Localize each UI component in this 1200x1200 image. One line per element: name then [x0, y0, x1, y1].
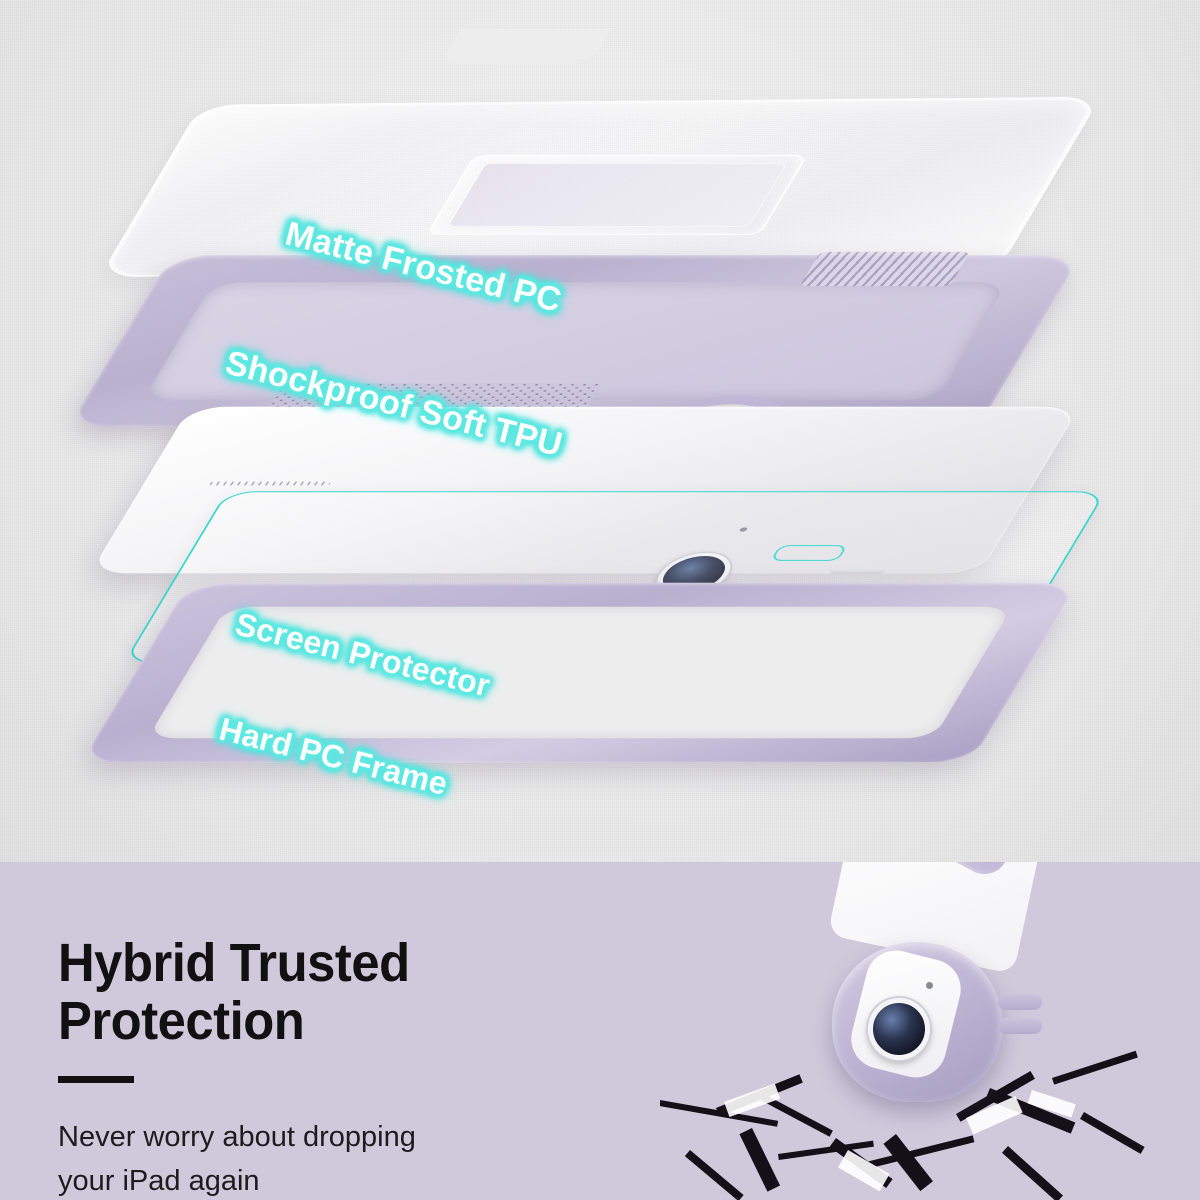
camera-lens: [868, 998, 930, 1060]
exploded-view-panel: Matte Frosted PC Shockproof Soft TPU Scr…: [0, 0, 1200, 862]
pc-frame-window: [147, 607, 1012, 739]
cased-ipad-corner: [740, 862, 1160, 1146]
button-cutouts: [998, 994, 1042, 1058]
microphone-dot: [926, 982, 933, 989]
button-cutout-volume-up: [998, 994, 1042, 1010]
grip-ridges: [800, 252, 971, 286]
feature-subtext: Never worry about dropping your iPad aga…: [58, 1115, 678, 1200]
drop-impact-scene: [660, 862, 1200, 1200]
feature-copy-block: Hybrid Trusted Protection Never worry ab…: [58, 934, 678, 1200]
product-feature-image: Matte Frosted PC Shockproof Soft TPU Scr…: [0, 0, 1200, 1200]
layer-hard-pc-frame: [135, 500, 1025, 845]
headline-divider: [58, 1076, 134, 1083]
feature-headline: Hybrid Trusted Protection: [58, 934, 641, 1050]
button-cutout-volume-down: [998, 1018, 1042, 1034]
feature-subtext-line-2: your iPad again: [58, 1159, 678, 1200]
feature-subtext-line-1: Never worry about dropping: [58, 1115, 678, 1159]
pc-plate-notch-top: [439, 29, 611, 65]
feature-panel: Hybrid Trusted Protection Never worry ab…: [0, 862, 1200, 1200]
